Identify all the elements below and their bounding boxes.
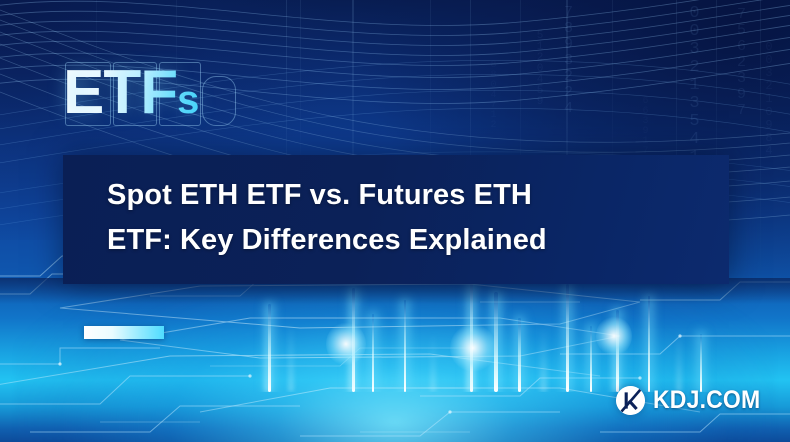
category-logo-main: ETF bbox=[63, 58, 177, 127]
brand-watermark: KDJ.COM bbox=[616, 386, 770, 415]
poster-canvas: 7893224 5120459 003213541097684 7562397 … bbox=[0, 0, 790, 442]
k-monogram-icon bbox=[616, 386, 645, 415]
category-logo-suffix: s bbox=[177, 78, 198, 122]
headline-line-2: ETF: Key Differences Explained bbox=[107, 218, 707, 263]
headline: Spot ETH ETF vs. Futures ETH ETF: Key Di… bbox=[107, 173, 707, 263]
headline-line-1: Spot ETH ETF vs. Futures ETH bbox=[107, 173, 707, 218]
category-logo: ETFs bbox=[63, 62, 198, 124]
accent-divider-bar bbox=[84, 326, 164, 339]
brand-name: KDJ.COM bbox=[653, 386, 760, 415]
headline-panel: Spot ETH ETF vs. Futures ETH ETF: Key Di… bbox=[63, 155, 729, 284]
